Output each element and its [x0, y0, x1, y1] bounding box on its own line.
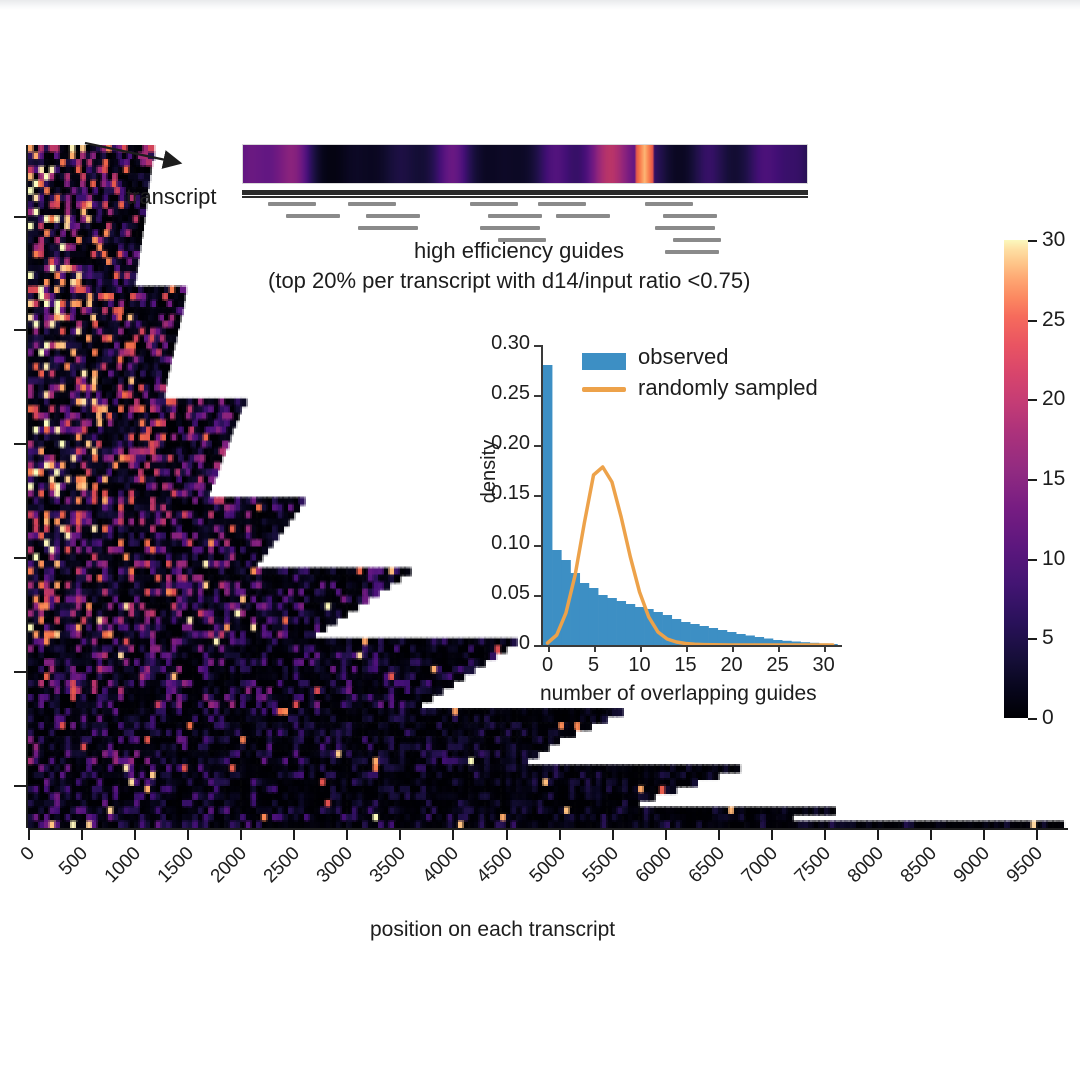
inset-density-plot: 00.050.100.150.200.250.30 051015202530 d…	[496, 340, 846, 650]
inset-y-tick-label: 0.30	[474, 332, 530, 355]
inset-x-tick-label: 25	[766, 654, 788, 677]
inset-x-tick	[594, 645, 596, 652]
x-tick-label: 1000	[101, 843, 146, 888]
colorbar-tick-label: 25	[1042, 308, 1065, 332]
x-tick	[612, 828, 614, 840]
x-tick-label: 3000	[313, 843, 358, 888]
inset-y-tick-label: 0.25	[474, 382, 530, 405]
x-tick	[559, 828, 561, 840]
example-transcript-strip	[242, 144, 808, 184]
x-tick-label: 9500	[1003, 843, 1048, 888]
guide-mark	[268, 202, 316, 206]
inset-y-axis-title: density	[478, 440, 501, 503]
inset-x-tick	[778, 645, 780, 652]
x-tick	[293, 828, 295, 840]
colorbar-tick	[1028, 638, 1037, 640]
x-tick-label: 2500	[260, 843, 305, 888]
inset-x-tick-label: 0	[542, 654, 553, 677]
x-axis-title: position on each transcript	[370, 918, 615, 942]
y-tick	[14, 443, 26, 445]
x-tick-label: 5000	[525, 843, 570, 888]
x-tick-label: 9000	[950, 843, 995, 888]
x-tick	[665, 828, 667, 840]
x-tick	[930, 828, 932, 840]
guide-mark	[358, 226, 418, 230]
colorbar-tick	[1028, 559, 1037, 561]
inset-x-tick-label: 30	[812, 654, 834, 677]
x-tick	[346, 828, 348, 840]
guides-subcaption: (top 20% per transcript with d14/input r…	[268, 268, 750, 294]
inset-y-tick	[534, 645, 541, 647]
x-tick	[187, 828, 189, 840]
inset-y-tick	[534, 595, 541, 597]
inset-y-tick	[534, 545, 541, 547]
legend-line-randomly-sampled	[582, 387, 626, 392]
guide-mark	[665, 250, 719, 254]
y-tick	[14, 785, 26, 787]
inset-y-axis-line	[541, 345, 543, 645]
colorbar-tick-label: 0	[1042, 706, 1054, 730]
guide-mark	[645, 202, 693, 206]
inset-x-tick	[686, 645, 688, 652]
guide-mark	[366, 214, 420, 218]
inset-y-tick	[534, 445, 541, 447]
x-tick-label: 0	[17, 843, 40, 866]
colorbar-tick-label: 10	[1042, 547, 1065, 571]
x-tick-label: 4500	[472, 843, 517, 888]
transcript-label: transcript	[126, 184, 216, 210]
colorbar-tick	[1028, 718, 1037, 720]
colorbar-tick	[1028, 240, 1037, 242]
x-tick	[399, 828, 401, 840]
guide-mark	[480, 226, 540, 230]
guide-mark	[556, 214, 610, 218]
inset-x-tick	[548, 645, 550, 652]
x-tick-label: 8500	[897, 843, 942, 888]
colorbar-tick	[1028, 320, 1037, 322]
colorbar-tick-label: 30	[1042, 228, 1065, 252]
figure-canvas: 0500100015002000250030003500400045005000…	[0, 0, 1080, 1080]
inset-y-tick-label: 0.05	[474, 582, 530, 605]
x-tick	[824, 828, 826, 840]
x-tick-label: 500	[55, 843, 93, 881]
y-tick	[14, 216, 26, 218]
x-tick	[1036, 828, 1038, 840]
y-axis-line	[26, 145, 28, 828]
x-tick-label: 6000	[631, 843, 676, 888]
legend-swatch-observed	[582, 353, 626, 370]
inset-y-tick	[534, 345, 541, 347]
guide-mark	[488, 214, 542, 218]
x-tick-label: 2000	[207, 843, 252, 888]
inset-x-tick-label: 15	[674, 654, 696, 677]
x-tick	[240, 828, 242, 840]
inset-x-tick	[640, 645, 642, 652]
inset-x-tick-label: 10	[628, 654, 650, 677]
x-tick	[28, 828, 30, 840]
inset-y-tick-label: 0	[474, 632, 530, 655]
inset-x-axis-line	[541, 645, 842, 647]
x-tick	[771, 828, 773, 840]
x-tick	[718, 828, 720, 840]
legend-label-observed: observed	[638, 344, 729, 370]
transcript-arrow-icon	[82, 138, 192, 172]
guides-caption: high efficiency guides	[414, 238, 624, 264]
x-tick-label: 7500	[791, 843, 836, 888]
x-tick	[452, 828, 454, 840]
guide-mark	[470, 202, 518, 206]
colorbar-tick-label: 20	[1042, 387, 1065, 411]
inset-x-axis-title: number of overlapping guides	[540, 682, 817, 706]
x-axis-line	[28, 828, 1068, 830]
x-tick	[81, 828, 83, 840]
guide-mark	[663, 214, 717, 218]
x-tick	[983, 828, 985, 840]
top-edge-band	[0, 0, 1080, 10]
x-tick-label: 6500	[684, 843, 729, 888]
colorbar-tick	[1028, 399, 1037, 401]
x-tick-label: 4000	[419, 843, 464, 888]
inset-x-tick-label: 5	[588, 654, 599, 677]
inset-y-tick	[534, 395, 541, 397]
inset-y-tick-label: 0.10	[474, 532, 530, 555]
inset-y-tick	[534, 495, 541, 497]
colorbar-tick-label: 15	[1042, 467, 1065, 491]
guide-mark	[673, 238, 721, 242]
guide-mark	[286, 214, 340, 218]
colorbar-tick	[1028, 479, 1037, 481]
inset-x-tick-label: 20	[720, 654, 742, 677]
x-tick-label: 1500	[154, 843, 199, 888]
x-tick-label: 8000	[844, 843, 889, 888]
y-tick	[14, 671, 26, 673]
x-tick	[506, 828, 508, 840]
inset-x-tick	[732, 645, 734, 652]
guide-mark	[348, 202, 396, 206]
colorbar-tick-label: 5	[1042, 626, 1054, 650]
transcript-baseline	[242, 190, 808, 195]
guide-mark	[655, 226, 715, 230]
legend-label-randomly-sampled: randomly sampled	[638, 375, 818, 401]
x-tick	[134, 828, 136, 840]
colorbar-gradient	[1004, 240, 1028, 718]
y-tick	[14, 329, 26, 331]
x-tick-label: 3500	[366, 843, 411, 888]
guide-mark	[538, 202, 586, 206]
example-transcript-cells	[242, 144, 808, 184]
y-tick	[14, 557, 26, 559]
x-tick-label: 5500	[578, 843, 623, 888]
x-tick	[877, 828, 879, 840]
x-tick-label: 7000	[738, 843, 783, 888]
inset-x-tick	[824, 645, 826, 652]
